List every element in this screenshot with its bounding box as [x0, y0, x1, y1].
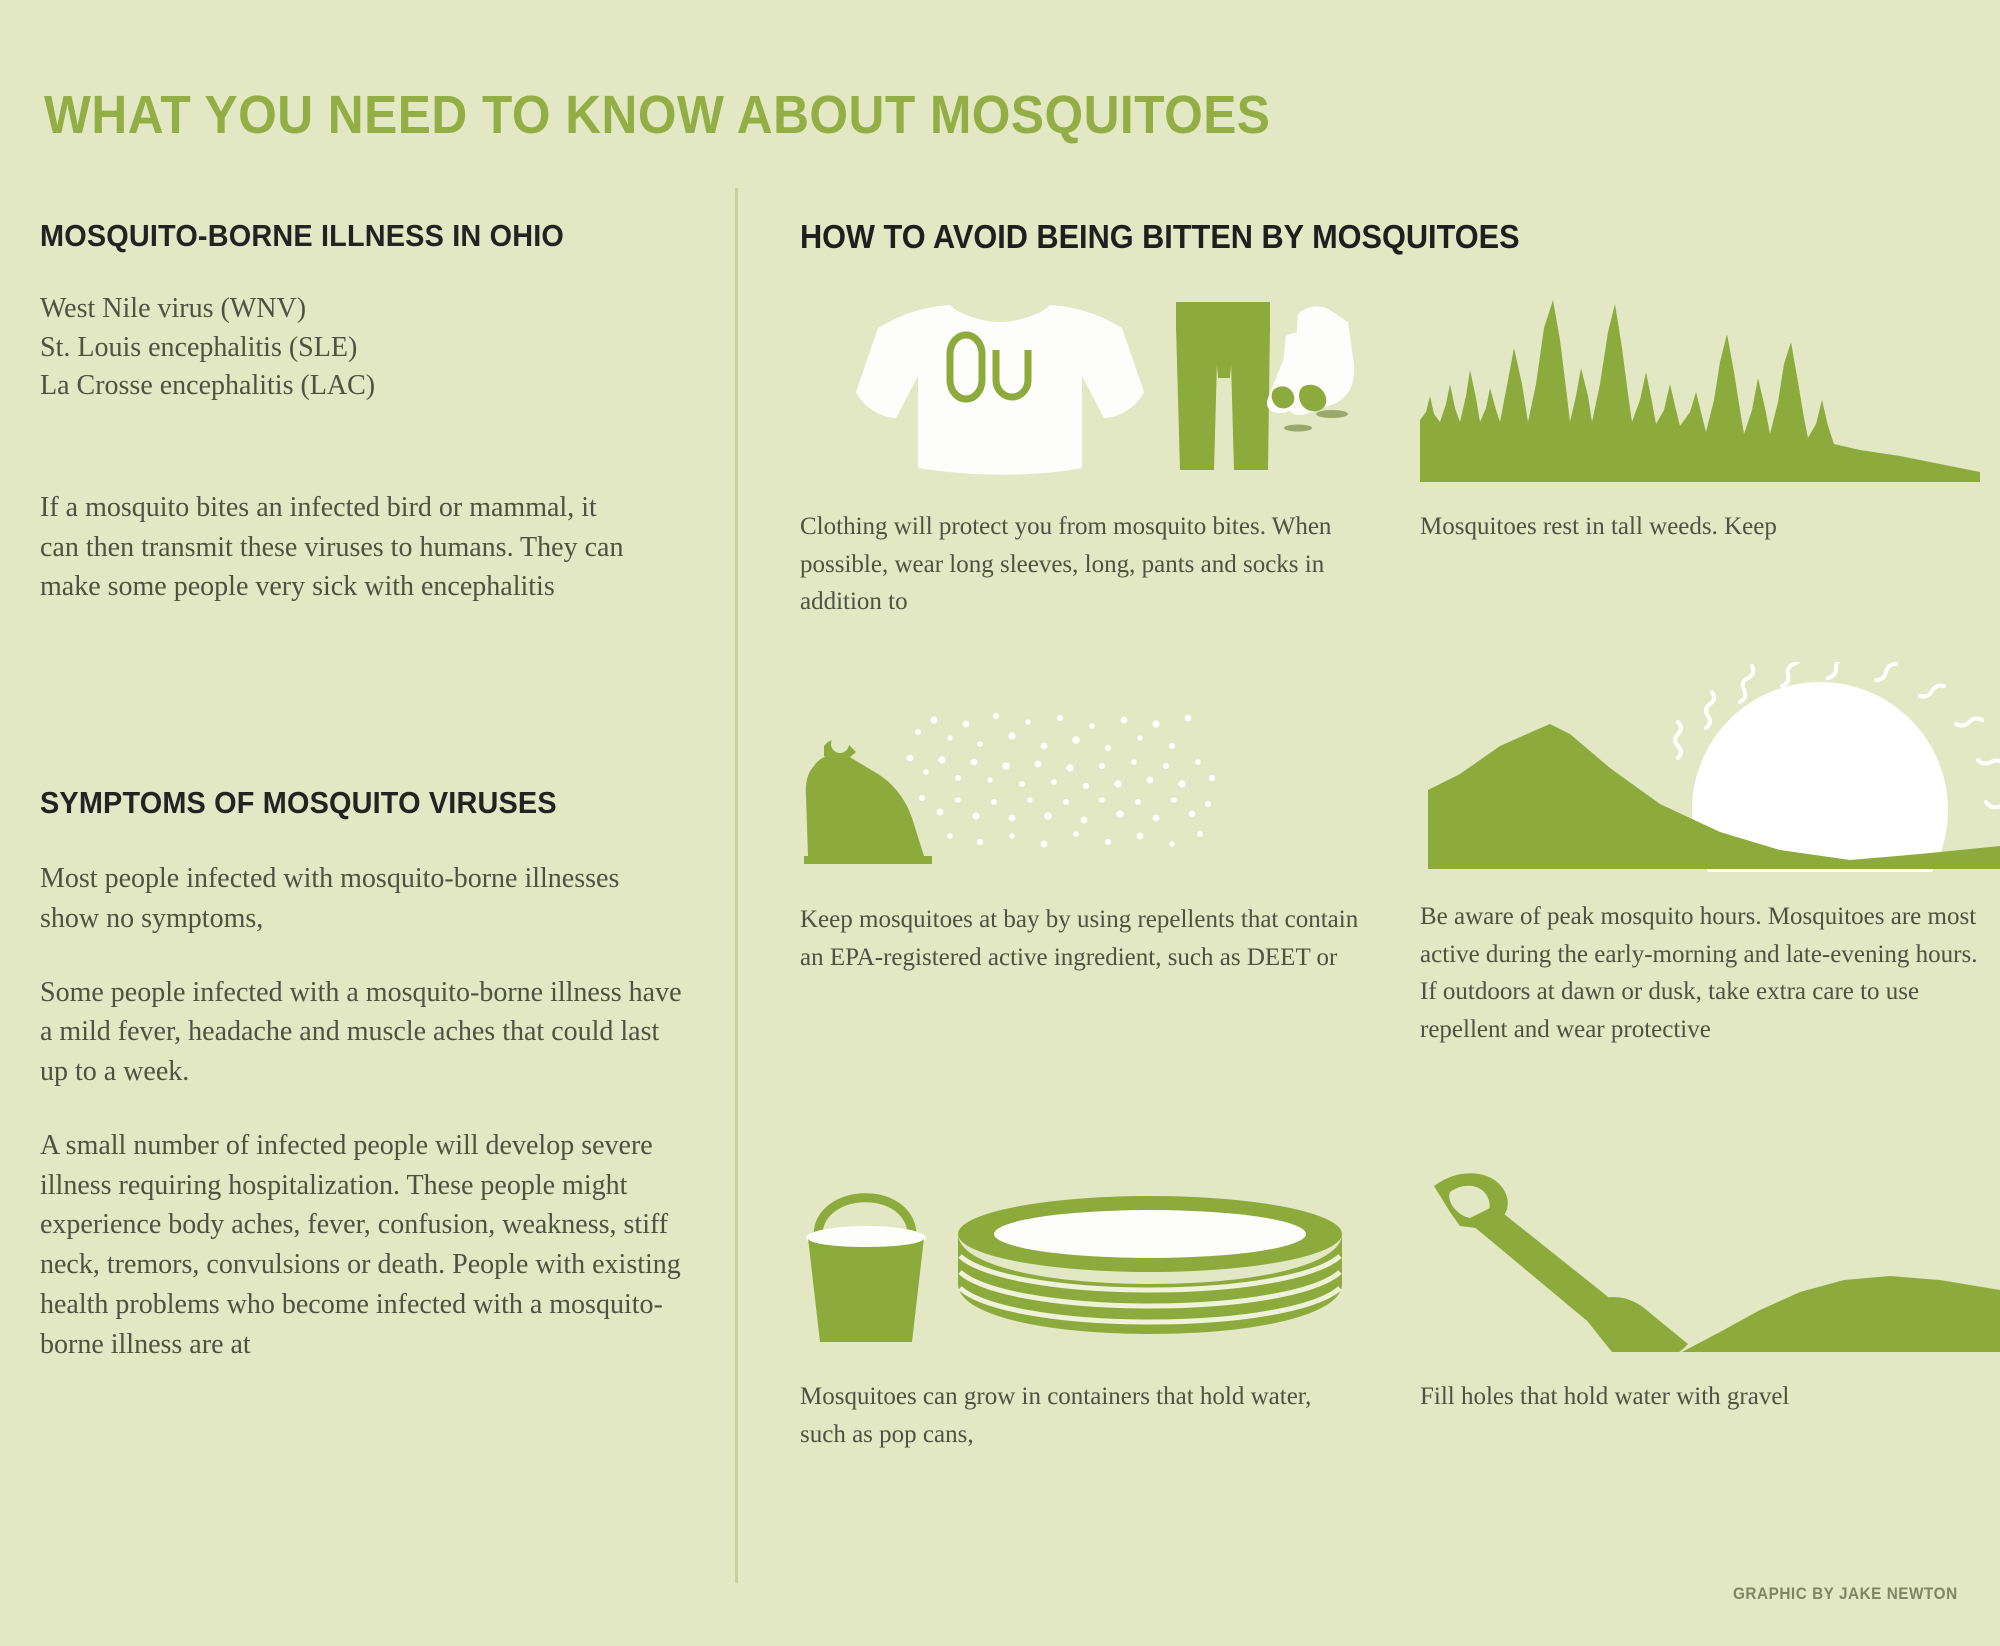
symptom-paragraph-3: A small number of infected people will d…: [40, 1126, 690, 1365]
symptom-paragraph-1: Most people infected with mosquito-borne…: [40, 859, 680, 939]
spray-bottle-icon: [800, 700, 1360, 875]
tip-caption: Clothing will protect you from mosquito …: [800, 508, 1345, 621]
clothing-icon: [800, 292, 1360, 482]
section-heading-avoid-bites: HOW TO AVOID BEING BITTEN BY MOSQUITOES: [800, 218, 1888, 256]
tip-clothing: Clothing will protect you from mosquito …: [800, 292, 1360, 621]
tip-caption: Mosquitoes rest in tall weeds. Keep: [1420, 508, 1980, 546]
list-item: St. Louis encephalitis (SLE): [40, 329, 700, 368]
list-item: West Nile virus (WNV): [40, 290, 700, 329]
section-heading-illness: MOSQUITO-BORNE ILLNESS IN OHIO: [40, 218, 654, 254]
tip-containers: Mosquitoes can grow in containers that h…: [800, 1172, 1360, 1453]
infographic-page: WHAT YOU NEED TO KNOW ABOUT MOSQUITOES M…: [0, 0, 2000, 1646]
page-title: WHAT YOU NEED TO KNOW ABOUT MOSQUITOES: [44, 84, 1270, 146]
symptom-paragraph-2: Some people infected with a mosquito-bor…: [40, 973, 690, 1092]
tip-peak-hours: Be aware of peak mosquito hours. Mosquit…: [1420, 662, 2000, 1048]
bucket-and-tire-icon: [800, 1172, 1360, 1352]
tall-weeds-icon: [1420, 292, 1980, 482]
tip-weeds: Mosquitoes rest in tall weeds. Keep: [1420, 292, 1980, 546]
column-divider: [735, 188, 738, 1583]
sunrise-hill-icon: [1420, 662, 2000, 872]
tip-caption: Keep mosquitoes at bay by using repellen…: [800, 901, 1360, 976]
tip-repellent: Keep mosquitoes at bay by using repellen…: [800, 700, 1360, 976]
right-column: HOW TO AVOID BEING BITTEN BY MOSQUITOES: [800, 218, 1970, 292]
tip-caption: Mosquitoes can grow in containers that h…: [800, 1378, 1345, 1453]
transmission-paragraph: If a mosquito bites an infected bird or …: [40, 488, 640, 607]
tip-caption: Be aware of peak mosquito hours. Mosquit…: [1420, 898, 1995, 1048]
virus-list: West Nile virus (WNV) St. Louis encephal…: [40, 290, 700, 406]
graphic-credit: GRAPHIC BY JAKE NEWTON: [1733, 1584, 1958, 1604]
list-item: La Crosse encephalitis (LAC): [40, 367, 700, 406]
shovel-and-gravel-icon: [1420, 1172, 2000, 1352]
left-column: MOSQUITO-BORNE ILLNESS IN OHIO West Nile…: [40, 218, 700, 1364]
tip-holes: Fill holes that hold water with gravel: [1420, 1172, 2000, 1416]
tip-caption: Fill holes that hold water with gravel: [1420, 1378, 2000, 1416]
section-heading-symptoms: SYMPTOMS OF MOSQUITO VIRUSES: [40, 785, 654, 821]
